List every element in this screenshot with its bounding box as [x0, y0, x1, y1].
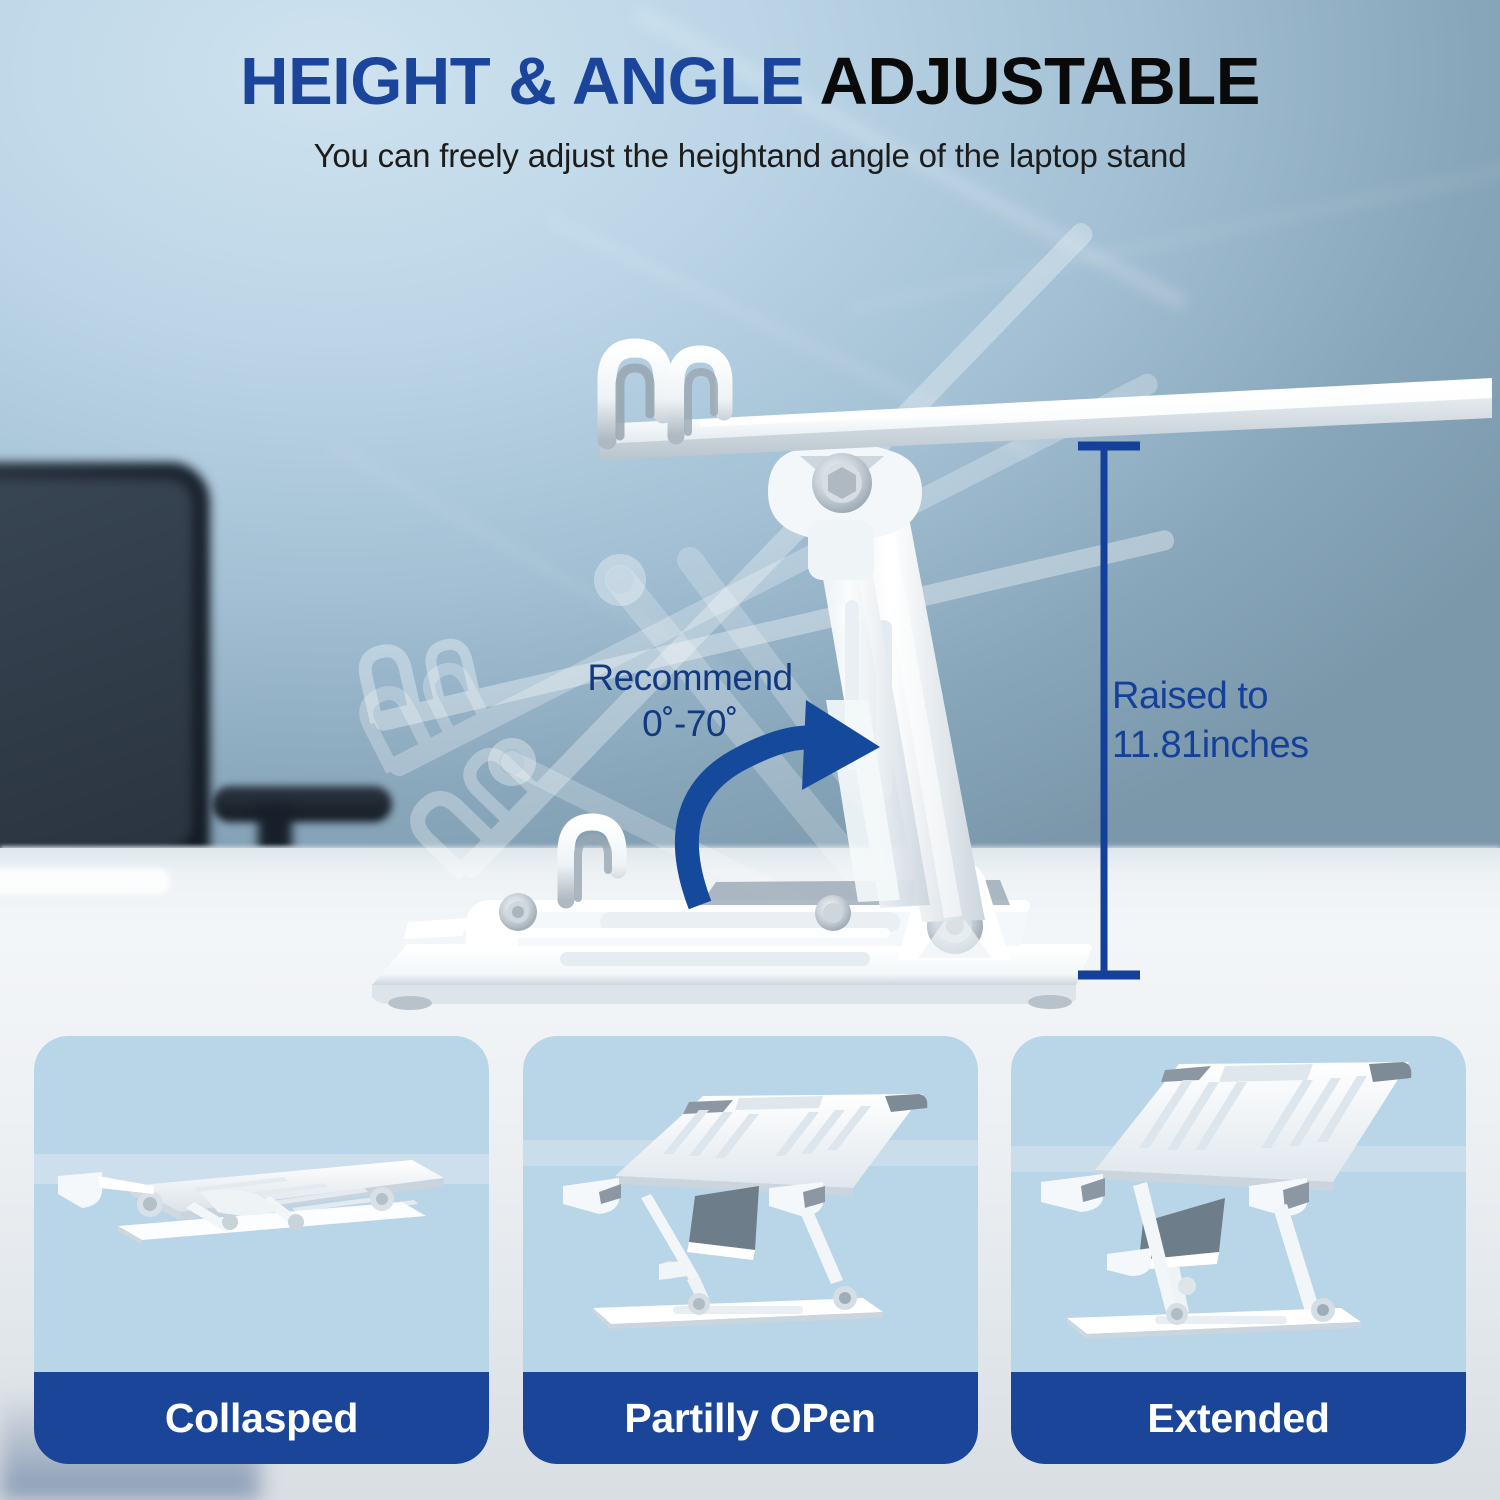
state-cards-row: Collasped [0, 1036, 1500, 1466]
raised-height-annotation: Raised to 11.81inches [1112, 672, 1442, 769]
mid-hinge-bolt [815, 895, 851, 931]
hero-product-illustration [0, 0, 1500, 1010]
card-photo-extended [1011, 1036, 1466, 1372]
card-photo-partially-open [523, 1036, 978, 1372]
card-label-partially-open: Partilly OPen [523, 1372, 978, 1464]
base-tab-left [404, 918, 470, 939]
extended-stand-svg [1011, 1036, 1466, 1372]
recommend-label: Recommend [540, 655, 840, 701]
lower-tray-hook [566, 822, 618, 900]
state-card-partially-open[interactable]: Partilly OPen [523, 1036, 978, 1464]
state-card-collapsed[interactable]: Collasped [34, 1036, 489, 1464]
laptop-stand-hero-svg [0, 0, 1500, 1010]
partially-open-stand-svg [523, 1036, 978, 1372]
recommend-annotation: Recommend 0˚-70˚ [540, 655, 840, 748]
card-photo-collapsed [34, 1036, 489, 1372]
card-label-extended: Extended [1011, 1372, 1466, 1464]
raised-value: 11.81inches [1112, 721, 1442, 770]
state-card-extended[interactable]: Extended [1011, 1036, 1466, 1464]
collapsed-stand-svg [34, 1036, 489, 1372]
raised-label: Raised to [1112, 672, 1442, 721]
card-label-collapsed: Collasped [34, 1372, 489, 1464]
recommend-range: 0˚-70˚ [540, 701, 840, 747]
